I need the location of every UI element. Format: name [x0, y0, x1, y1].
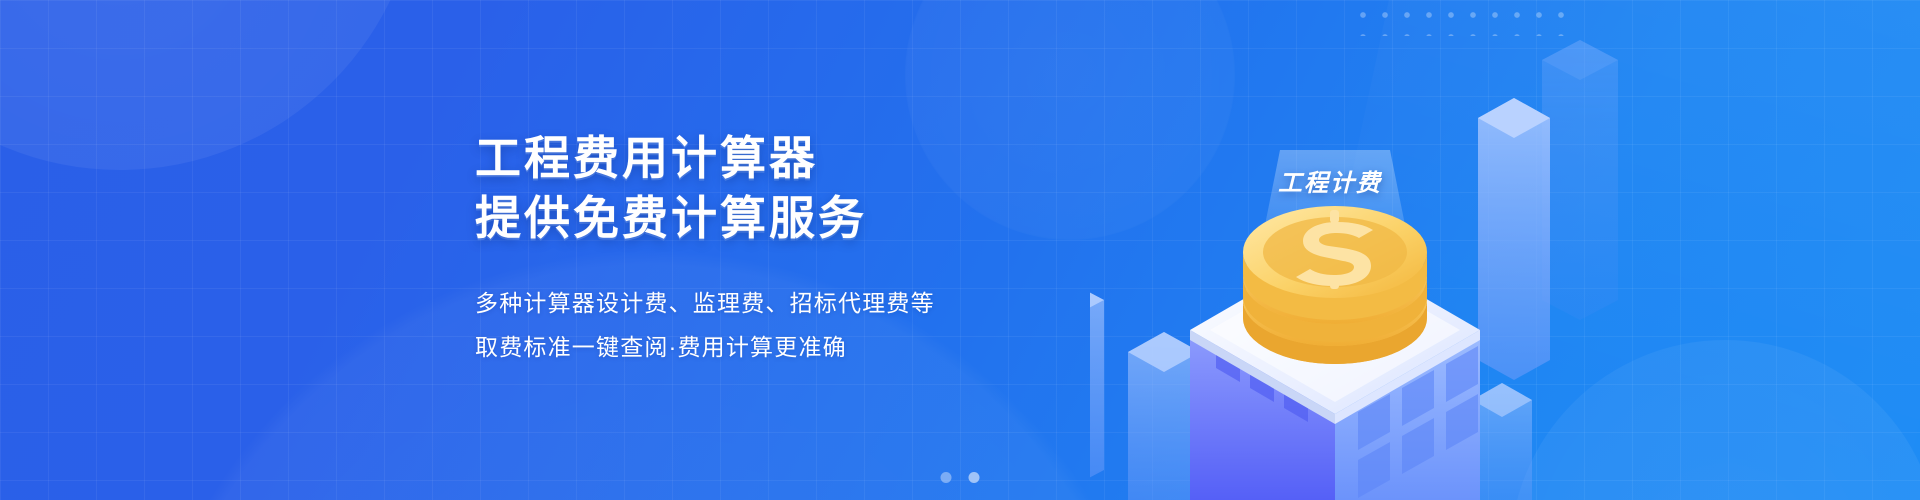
headline-line-1: 工程费用计算器	[475, 128, 1115, 188]
hero-banner: 工程费用计算器 提供免费计算服务 多种计算器设计费、监理费、招标代理费等 取费标…	[0, 0, 1920, 500]
subtitle-line-2: 取费标准一键查阅·费用计算更准确	[475, 325, 1115, 369]
decorative-bar-right	[1478, 98, 1550, 380]
headline-line-2: 提供免费计算服务	[475, 188, 1115, 248]
subtitle-line-1: 多种计算器设计费、监理费、招标代理费等	[475, 281, 1115, 325]
decorative-bar-small-right	[1472, 383, 1532, 500]
carousel-indicators[interactable]	[941, 472, 980, 483]
decorative-bar-far-right	[1542, 40, 1618, 320]
decorative-circle-top-left	[0, 0, 420, 170]
decorative-bar-left	[1090, 280, 1104, 490]
illustration-label: 工程计费	[1278, 163, 1382, 198]
coin-stack	[1243, 206, 1427, 364]
decorative-bar-left-small	[1128, 332, 1200, 500]
banner-copy: 工程费用计算器 提供免费计算服务 多种计算器设计费、监理费、招标代理费等 取费标…	[475, 128, 1115, 369]
carousel-dot-2[interactable]	[969, 472, 980, 483]
carousel-dot-1[interactable]	[941, 472, 952, 483]
hero-illustration	[1090, 0, 1790, 500]
